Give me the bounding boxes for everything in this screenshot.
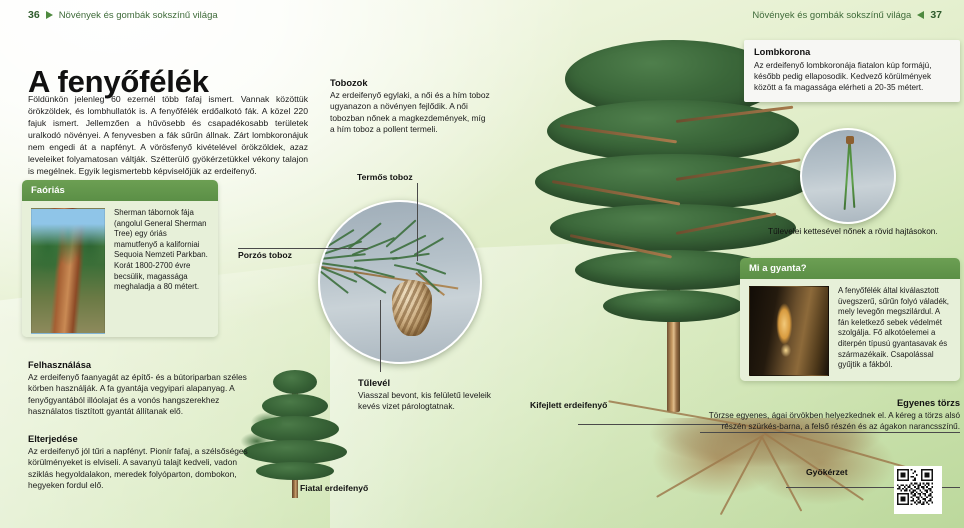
needle-magnifier-circle: [800, 128, 896, 224]
section-elterjedese-title: Elterjedése: [28, 434, 263, 444]
label-kifejlett-erdeifenyo: Kifejlett erdeifenyő: [530, 400, 607, 410]
section-tulevel: Tűlevél Viasszal bevont, kis felületű le…: [358, 378, 508, 413]
section-tobozok-text: Az erdeifenyő egylaki, a női és a hím to…: [330, 90, 490, 136]
needle-spray: [318, 244, 464, 324]
section-felhasznalasa-text: Az erdeifenyő faanyagát az építő- és a b…: [28, 372, 263, 418]
callout-lombkorona-text: Az erdeifenyő lombkoronája fiatalon kúp …: [754, 60, 950, 94]
card-faorias-text: Sherman tábornok fája (angolul General S…: [114, 208, 209, 330]
arrow-right-icon: [46, 11, 53, 19]
root-strand: [761, 437, 802, 512]
section-felhasznalasa: Felhasználása Az erdeifenyő faanyagát az…: [28, 360, 263, 418]
short-shoot-base: [846, 136, 854, 144]
leader-line-egyenes-torzs: [700, 432, 960, 433]
root-strand: [656, 434, 764, 498]
label-fiatal-erdeifenyo: Fiatal erdeifenyő: [300, 483, 368, 493]
leader-line-porzos-toboz: [238, 248, 368, 249]
section-tobozok: Tobozok Az erdeifenyő egylaki, a női és …: [330, 78, 490, 136]
running-head-left-label: Növények és gombák sokszínű világa: [59, 10, 218, 21]
qr-code-icon: [897, 469, 933, 505]
leader-line-termos-toboz: [417, 183, 418, 261]
section-tulevel-title: Tűlevél: [358, 378, 508, 388]
section-elterjedese-text: Az erdeifenyő jól tűri a napfényt. Pioní…: [28, 446, 263, 492]
resin-drop-photo: [749, 286, 829, 376]
caption-tulevelei: Tűlevelei kettesével nőnek a rövid hajtá…: [768, 226, 938, 236]
arrow-left-icon: [917, 11, 924, 19]
card-faorias-title: Faóriás: [22, 180, 218, 201]
giant-sequoia-photo: [31, 208, 105, 334]
callout-lombkorona: Lombkorona Az erdeifenyő lombkoronája fi…: [744, 40, 960, 102]
section-egyenes-torzs-title: Egyenes törzs: [700, 398, 960, 408]
section-egyenes-torzs-text: Törzse egyenes, ágai örvökben helyezkedn…: [700, 410, 960, 432]
running-head-left: 36 Növények és gombák sokszínű világa: [28, 9, 218, 21]
intro-paragraph: Földünkön jelenleg 60 ezernél több fafaj…: [28, 93, 308, 178]
textbook-spread: 36 Növények és gombák sokszínű világa Nö…: [0, 0, 964, 528]
qr-code[interactable]: [894, 466, 942, 514]
callout-lombkorona-title: Lombkorona: [754, 47, 950, 57]
pine-needle: [849, 140, 856, 208]
section-felhasznalasa-title: Felhasználása: [28, 360, 263, 370]
leader-line-tulevel: [380, 300, 381, 372]
crown-tier: [603, 290, 743, 322]
section-tulevel-text: Viasszal bevont, kis felületű leveleik k…: [358, 390, 508, 413]
crown-tier: [550, 204, 796, 252]
card-mi-a-gyanta-text: A fenyőfélék által kiválasztott üvegszer…: [838, 286, 951, 374]
card-mi-a-gyanta: Mi a gyanta? A fenyőfélék által kiválasz…: [740, 258, 960, 381]
root-system-illustration: [596, 418, 936, 526]
label-porzos-toboz: Porzós toboz: [238, 250, 292, 260]
page-number-right: 37: [930, 9, 942, 21]
female-cone: [392, 280, 432, 336]
section-egyenes-torzs: Egyenes törzs Törzse egyenes, ágai örvök…: [700, 398, 960, 432]
cone-magnifier-circle: [318, 200, 482, 364]
label-gyokerzet: Gyökérzet: [806, 467, 848, 477]
card-faorias: Faóriás Sherman tábornok fája (angolul G…: [22, 180, 218, 337]
page-number-left: 36: [28, 9, 40, 21]
young-crown-tier: [256, 462, 334, 480]
young-crown-tier: [273, 370, 317, 394]
card-mi-a-gyanta-title: Mi a gyanta?: [740, 258, 960, 279]
section-elterjedese: Elterjedése Az erdeifenyő jól tűri a nap…: [28, 434, 263, 492]
label-termos-toboz: Termős toboz: [357, 172, 413, 182]
section-tobozok-title: Tobozok: [330, 78, 490, 88]
